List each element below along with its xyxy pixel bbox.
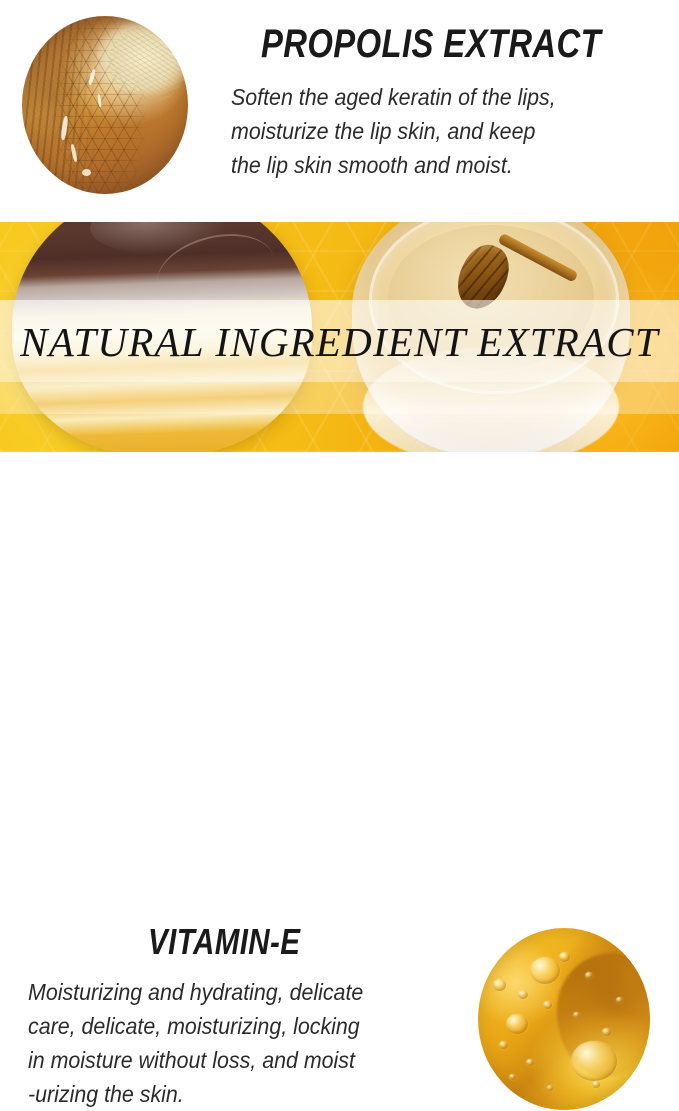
banner-white-overlay-soft (0, 382, 679, 414)
vitamin-section: VITAMIN-E Moisturizing and hydrating, de… (0, 452, 679, 679)
golden-oil-droplets-photo (478, 928, 650, 1110)
oil-bubble (547, 1085, 553, 1091)
oil-bubble (518, 990, 528, 999)
infographic-page: PROPOLIS EXTRACT Soften the aged keratin… (0, 0, 679, 679)
propolis-description: Soften the aged keratin of the lips, moi… (231, 80, 677, 182)
vitamin-line-2: care, delicate, moisturizing, locking (28, 1009, 484, 1043)
oil-bubble (543, 1001, 552, 1009)
oil-bubble (592, 1081, 600, 1088)
banner-title: NATURAL INGREDIENT EXTRACT (0, 318, 679, 366)
propolis-line-1: Soften the aged keratin of the lips, (231, 80, 677, 114)
propolis-line-3: the lip skin smooth and moist. (231, 148, 677, 182)
oil-bubble (602, 1028, 611, 1036)
propolis-line-2: moisturize the lip skin, and keep (231, 114, 677, 148)
oil-bubble (573, 1012, 580, 1018)
vitamin-title: VITAMIN-E (148, 922, 300, 962)
honey-drip-5 (82, 169, 91, 176)
oil-bubble (526, 1059, 534, 1066)
vitamin-description: Moisturizing and hydrating, delicate car… (28, 975, 484, 1111)
oil-bubble (509, 1074, 516, 1080)
oil-bubble (499, 1041, 508, 1049)
oil-bubble (506, 1014, 528, 1034)
vitamin-line-3: in moisture without loss, and moist (28, 1043, 484, 1077)
vitamin-line-4: -urizing the skin. (28, 1077, 484, 1111)
oil-bubble (530, 957, 560, 984)
oil-bubble (493, 979, 506, 991)
oil-bubble (585, 972, 593, 979)
natural-ingredient-banner: NATURAL INGREDIENT EXTRACT Propolis Lip … (0, 222, 679, 452)
oil-bubble (559, 952, 570, 962)
vitamin-line-1: Moisturizing and hydrating, delicate (28, 975, 484, 1009)
propolis-section: PROPOLIS EXTRACT Soften the aged keratin… (0, 0, 679, 222)
oil-bubble (571, 1041, 617, 1081)
propolis-title: PROPOLIS EXTRACT (261, 22, 601, 66)
propolis-wax-texture (108, 27, 184, 102)
honeycomb-honey-photo (22, 16, 188, 194)
oil-bubble (616, 997, 623, 1003)
